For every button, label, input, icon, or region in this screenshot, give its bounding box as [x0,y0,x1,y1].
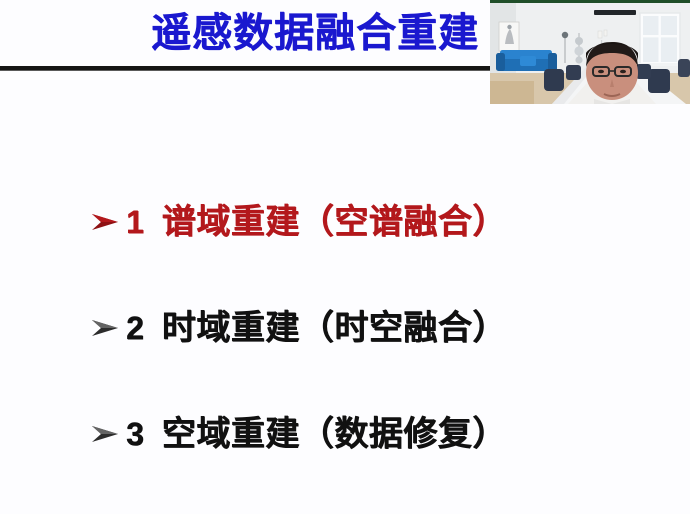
arrowhead-bullet-icon [88,205,122,239]
list-item-number: 1 [126,203,144,241]
list-item-label: 时域重建（时空融合） [162,308,507,348]
arrowhead-bullet-icon [88,311,122,345]
list-item: 1 谱域重建（空谱融合） [88,202,507,242]
list-item: 2 时域重建（时空融合） [88,308,507,348]
list-item-number: 3 [126,415,144,453]
list-item-number: 2 [126,309,144,347]
slide-canvas: 遥感数据融合重建 1 谱域重建（空谱融合） 2 时域重建（时空融合） [0,0,690,514]
presenter-webcam-tile[interactable] [490,0,690,104]
webcam-video-feed [490,3,690,104]
list-item-label: 谱域重建（空谱融合） [162,202,507,242]
arrowhead-bullet-icon [88,417,122,451]
list-item-label: 空域重建（数据修复） [162,414,507,454]
list-item: 3 空域重建（数据修复） [88,414,507,454]
agenda-bullet-list: 1 谱域重建（空谱融合） 2 时域重建（时空融合） 3 空域重建（数据修复） [0,72,690,514]
